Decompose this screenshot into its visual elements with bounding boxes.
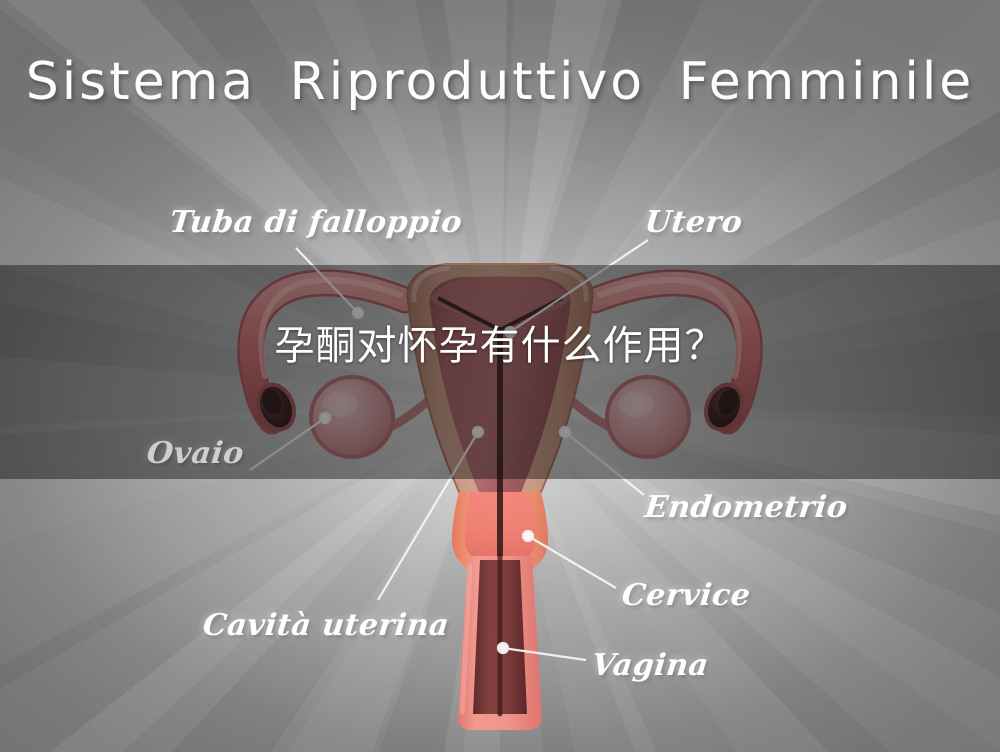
vagina bbox=[458, 556, 542, 730]
label-ovaio: Ovaio bbox=[145, 436, 246, 471]
label-endometrio: Endometrio bbox=[643, 490, 849, 525]
label-tuba-di-falloppio: Tuba di falloppio bbox=[168, 205, 464, 240]
illustration-canvas: Sistema Riproduttivo Femminile Tuba di f… bbox=[0, 0, 1000, 752]
overlay-question-text: 孕酮对怀孕有什么作用？ bbox=[200, 322, 800, 370]
label-utero: Utero bbox=[643, 205, 744, 240]
label-vagina: Vagina bbox=[590, 648, 710, 683]
page-title: Sistema Riproduttivo Femminile bbox=[0, 52, 1000, 112]
label-cavita-uterina: Cavità uterina bbox=[201, 608, 451, 643]
label-cervice: Cervice bbox=[620, 578, 752, 613]
